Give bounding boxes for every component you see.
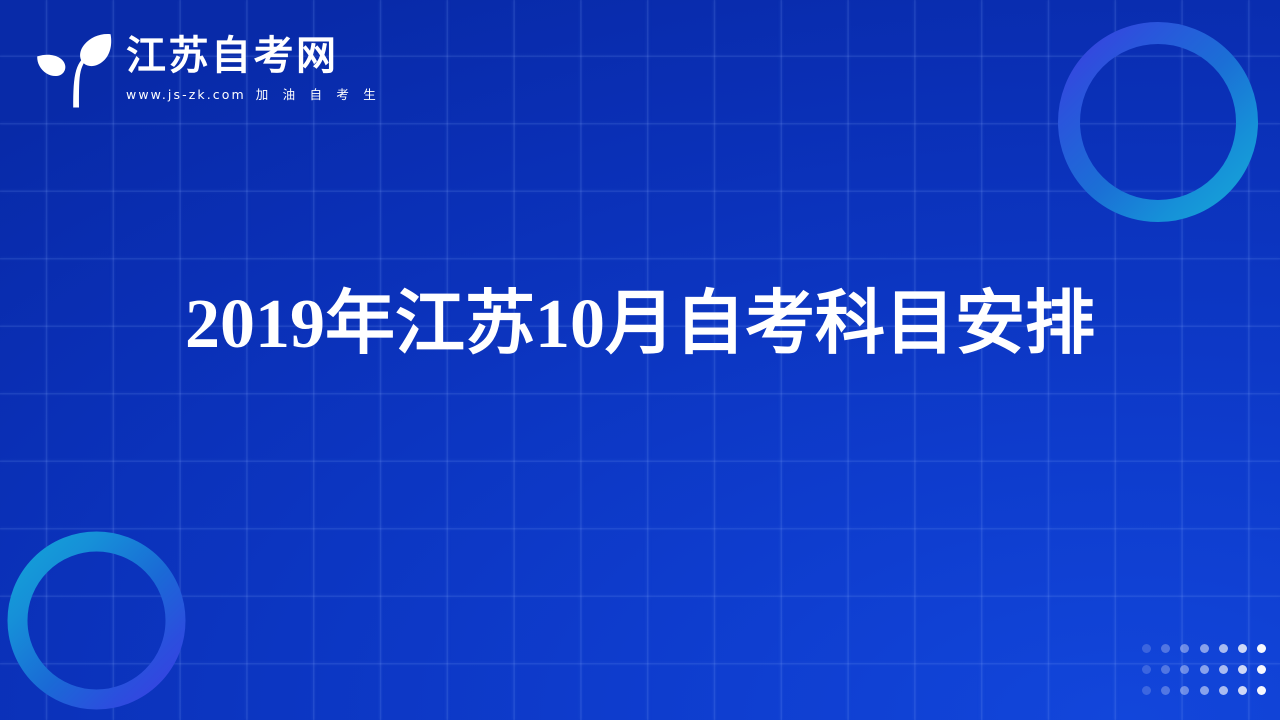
dot — [1200, 665, 1209, 674]
dot — [1180, 686, 1189, 695]
dot — [1161, 686, 1170, 695]
sprout-icon — [33, 30, 117, 108]
dot — [1200, 644, 1209, 653]
logo-subtitle: www.js-zk.com 加 油 自 考 生 — [126, 84, 381, 103]
logo-slogan: 加 油 自 考 生 — [256, 84, 381, 103]
page-title-text: 2019年江苏10月自考科目安排 — [180, 278, 1100, 371]
ring-top-right-decoration — [1057, 21, 1259, 223]
slide-canvas: 江苏自考网 www.js-zk.com 加 油 自 考 生 2019年江苏10月… — [0, 0, 1280, 720]
logo-brand-name: 江苏自考网 — [126, 35, 381, 77]
dot — [1238, 644, 1247, 653]
dot — [1142, 644, 1151, 653]
dot — [1200, 686, 1209, 695]
site-logo[interactable]: 江苏自考网 www.js-zk.com 加 油 自 考 生 — [33, 30, 381, 108]
dot — [1219, 686, 1228, 695]
ring-bottom-left-decoration — [7, 531, 186, 710]
dot — [1238, 686, 1247, 695]
page-title: 2019年江苏10月自考科目安排 — [0, 278, 1280, 371]
dot — [1161, 644, 1170, 653]
dot — [1219, 644, 1228, 653]
dot-grid-decoration — [1137, 638, 1271, 701]
dot — [1142, 686, 1151, 695]
dot — [1219, 665, 1228, 674]
dot — [1238, 665, 1247, 674]
dot — [1257, 644, 1266, 653]
dot — [1257, 686, 1266, 695]
logo-text-group: 江苏自考网 www.js-zk.com 加 油 自 考 生 — [126, 35, 381, 103]
dot — [1161, 665, 1170, 674]
dot — [1257, 665, 1266, 674]
dot — [1180, 644, 1189, 653]
logo-website: www.js-zk.com — [126, 87, 246, 102]
dot — [1142, 665, 1151, 674]
dot — [1180, 665, 1189, 674]
